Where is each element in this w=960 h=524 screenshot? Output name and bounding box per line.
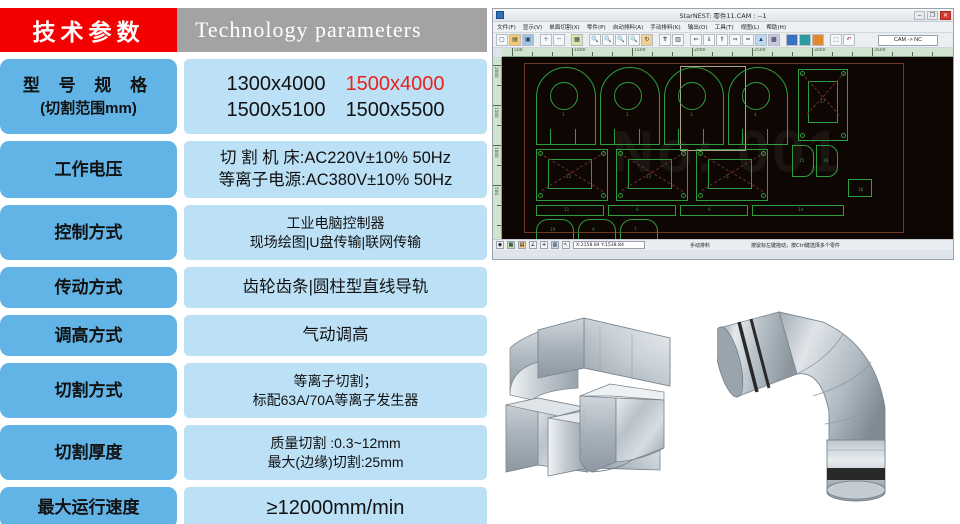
nest-part-6[interactable] bbox=[680, 205, 748, 216]
nest-part-4-tab bbox=[742, 129, 768, 145]
galvanized-duct-fittings-group bbox=[492, 300, 732, 520]
nest-part-4-hole bbox=[742, 82, 770, 110]
arrow-left-icon[interactable]: ⇐ bbox=[690, 34, 702, 46]
corner-hole bbox=[538, 193, 543, 198]
arrow-up-icon[interactable]: ⇑ bbox=[716, 34, 728, 46]
nest-part-number: 6 bbox=[708, 207, 711, 212]
layer-icon[interactable]: ▤ bbox=[518, 241, 526, 249]
cad-drawing-canvas[interactable]: No: 001 1 2 3 4 bbox=[502, 57, 953, 239]
nest-part-8[interactable] bbox=[608, 205, 676, 216]
ruler-h-label: 3000 bbox=[814, 48, 825, 53]
cad-titlebar: StarNEST: 零件11.CAM : --1 – ❐ ✕ bbox=[493, 9, 953, 22]
coordinate-readout: X:2158.84 Y:1538.84 bbox=[573, 241, 645, 249]
slide-root: 技术参数 Technology parameters 型 号 规 格 (切割范围… bbox=[0, 0, 960, 524]
row-value-height-adjust: 气动调高 bbox=[184, 315, 487, 356]
control-line-2: 现场绘图|U盘传输|联网传输 bbox=[250, 233, 421, 251]
model-line-2: 1500x5100 1500x5500 bbox=[226, 97, 444, 123]
model-1500x5500: 1500x5500 bbox=[346, 99, 445, 121]
row-value-model: 1300x4000 1500x4000 1500x5100 1500x5500 bbox=[184, 59, 487, 134]
row-label-voltage: 工作电压 bbox=[0, 141, 177, 198]
nest-part-3-tab bbox=[678, 129, 704, 145]
nest-part-number: 10 bbox=[550, 227, 555, 232]
cutting-mode-line-1: 等离子切割； bbox=[294, 372, 378, 390]
cutting-mode-line-2: 标配63A/70A等离子发生器 bbox=[253, 391, 419, 409]
hatch-icon[interactable]: ▩ bbox=[768, 34, 780, 46]
nest-part-9[interactable] bbox=[578, 219, 616, 239]
new-doc-icon[interactable]: ▢ bbox=[496, 34, 508, 46]
nest-part-number: 4 bbox=[754, 112, 757, 117]
cad-window-title: StarNEST: 零件11.CAM : --1 bbox=[493, 10, 953, 20]
table-row: 切割厚度 质量切割 :0.3~12mm 最大(边缘)切割:25mm bbox=[0, 425, 487, 480]
row-label-max-speed: 最大运行速度 bbox=[0, 487, 177, 524]
table-row: 控制方式 工业电脑控制器 现场绘图|U盘传输|联网传输 bbox=[0, 205, 487, 260]
horizontal-ruler[interactable]: 500 1000 1500 2000 2500 3000 3500 bbox=[502, 48, 953, 57]
magnify-fit-icon[interactable]: 🔍 bbox=[628, 34, 640, 46]
nest-part-number: 7 bbox=[634, 227, 637, 232]
table-row: 传动方式 齿轮齿条|圆柱型直线导轨 bbox=[0, 267, 487, 308]
nest-part-number: 14 bbox=[798, 207, 803, 212]
snap-icon[interactable]: ◉ bbox=[496, 241, 504, 249]
status-mode: 手动排料 bbox=[690, 242, 710, 249]
header-title-en: Technology parameters bbox=[177, 8, 487, 52]
open-folder-icon[interactable]: ▤ bbox=[509, 34, 521, 46]
corner-hole bbox=[618, 193, 623, 198]
spec-table-header: 技术参数 Technology parameters bbox=[0, 8, 487, 52]
ruler-v-label: 1000 bbox=[494, 147, 499, 158]
menu-file[interactable]: 文件(F) bbox=[497, 23, 516, 31]
model-line-1: 1300x4000 1500x4000 bbox=[226, 71, 444, 97]
nest-part-3-hole bbox=[678, 82, 706, 110]
view-icon[interactable]: ▥ bbox=[551, 241, 559, 249]
corner-hole bbox=[841, 133, 846, 138]
menu-single-cut[interactable]: 单面切割(X) bbox=[549, 23, 580, 31]
magnify-out-icon[interactable]: 🔍 bbox=[615, 34, 627, 46]
cad-body: 2000 1500 1000 500 No: 001 bbox=[493, 57, 953, 239]
minus-bar-icon[interactable]: ━ bbox=[742, 34, 754, 46]
block-blue-icon[interactable] bbox=[786, 34, 798, 46]
ruler-v-label: 2000 bbox=[494, 67, 499, 78]
window-controls: – ❐ ✕ bbox=[914, 11, 951, 20]
ruler-h-label: 2000 bbox=[694, 48, 705, 53]
table-row: 调高方式 气动调高 bbox=[0, 315, 487, 356]
row-label-control: 控制方式 bbox=[0, 205, 177, 260]
menu-part[interactable]: 零件(P) bbox=[587, 23, 606, 31]
ruler-h-label: 500 bbox=[514, 48, 523, 53]
status-hint: 按鼠标左键拖动，按Ctrl键选择多个零件 bbox=[751, 242, 840, 249]
model-1300x4000: 1300x4000 bbox=[226, 73, 325, 95]
row-value-max-speed: ≥12000mm/min bbox=[184, 487, 487, 524]
align-mirror-icon[interactable]: ▥ bbox=[672, 34, 684, 46]
ruler-h-label: 1500 bbox=[634, 48, 645, 53]
nest-part-1-hole bbox=[550, 82, 578, 110]
menu-manual-nest[interactable]: 手动排料(K) bbox=[650, 23, 680, 31]
row-label-model: 型 号 规 格 (切割范围mm) bbox=[0, 59, 177, 134]
zoom-out-minus-icon[interactable]: － bbox=[553, 34, 565, 46]
row-label-transmission: 传动方式 bbox=[0, 267, 177, 308]
cad-application-window[interactable]: StarNEST: 零件11.CAM : --1 – ❐ ✕ 文件(F) 显示(… bbox=[492, 8, 954, 260]
corner-hole bbox=[761, 193, 766, 198]
row-value-cutting-thickness: 质量切割 :0.3~12mm 最大(边缘)切割:25mm bbox=[184, 425, 487, 480]
nest-part-number: 15 bbox=[799, 158, 804, 163]
table-row: 最大运行速度 ≥12000mm/min bbox=[0, 487, 487, 524]
maximize-icon[interactable]: ❐ bbox=[927, 11, 938, 20]
max-speed-line-1: ≥12000mm/min bbox=[267, 495, 405, 521]
nest-part-number: 3 bbox=[690, 112, 693, 117]
spec-table: 技术参数 Technology parameters 型 号 规 格 (切割范围… bbox=[0, 8, 487, 520]
ruler-h-label: 3500 bbox=[874, 48, 885, 53]
menu-tools[interactable]: 工具(T) bbox=[715, 23, 734, 31]
control-line-1: 工业电脑控制器 bbox=[287, 214, 385, 232]
select-icon[interactable]: ⬚ bbox=[830, 34, 842, 46]
ruler-v-label: 1500 bbox=[494, 107, 499, 118]
cad-toolbar: ▢ ▤ ▣ ＋ － ▦ 🔍 🔍 🔍 🔍 ↻ ⇈ ▥ ⇐ ⇓ ⇑ ⇒ ━ ▲ ▩ bbox=[493, 33, 953, 48]
height-adjust-line-1: 气动调高 bbox=[303, 325, 369, 346]
arrow-down-icon[interactable]: ⇓ bbox=[703, 34, 715, 46]
row-value-transmission: 齿轮齿条|圆柱型直线导轨 bbox=[184, 267, 487, 308]
save-disk-icon[interactable]: ▣ bbox=[522, 34, 534, 46]
row-value-control: 工业电脑控制器 现场绘图|U盘传输|联网传输 bbox=[184, 205, 487, 260]
nest-part-number: 8 bbox=[636, 207, 639, 212]
magnify-window-icon[interactable]: 🔍 bbox=[589, 34, 601, 46]
nest-part-number: 18 bbox=[858, 187, 863, 192]
angle-icon[interactable]: ∠ bbox=[529, 241, 537, 249]
galvanized-round-elbow bbox=[717, 300, 917, 520]
nest-part-1-tab bbox=[550, 129, 576, 145]
ortho-icon[interactable]: ✛ bbox=[540, 241, 548, 249]
corner-hole bbox=[601, 193, 606, 198]
model-1500x4000: 1500x4000 bbox=[346, 73, 445, 95]
zoom-in-plus-icon[interactable]: ＋ bbox=[540, 34, 552, 46]
row-value-voltage: 切 割 机 床:AC220V±10% 50Hz 等离子电源:AC380V±10%… bbox=[184, 141, 487, 198]
menu-help[interactable]: 帮助(H) bbox=[766, 23, 786, 31]
ruler-v-label: 500 bbox=[494, 187, 499, 195]
array-icon[interactable]: ▲ bbox=[755, 34, 767, 46]
block-orange-icon[interactable] bbox=[812, 34, 824, 46]
product-photo-strip bbox=[492, 300, 957, 520]
rotate-icon[interactable]: ↻ bbox=[641, 34, 653, 46]
arrow-right-icon[interactable]: ⇒ bbox=[729, 34, 741, 46]
row-label-cutting-thickness: 切割厚度 bbox=[0, 425, 177, 480]
nest-part-11[interactable] bbox=[536, 205, 604, 216]
row-label-cutting-mode: 切割方式 bbox=[0, 363, 177, 418]
vertical-ruler[interactable]: 2000 1500 1000 500 bbox=[493, 57, 502, 239]
ruler-h-label: 2500 bbox=[754, 48, 765, 53]
corner-hole bbox=[681, 193, 686, 198]
row-label-model-sub: (切割范围mm) bbox=[40, 100, 137, 117]
grid-icon[interactable]: ▦ bbox=[571, 34, 583, 46]
block-teal-icon[interactable] bbox=[799, 34, 811, 46]
table-row: 切割方式 等离子切割； 标配63A/70A等离子发生器 bbox=[0, 363, 487, 418]
menu-output[interactable]: 输出(O) bbox=[688, 23, 708, 31]
nest-part-number: 1 bbox=[562, 112, 565, 117]
nest-part-2-tab bbox=[614, 129, 640, 145]
menu-window[interactable]: 视图(L) bbox=[741, 23, 760, 31]
minimize-icon[interactable]: – bbox=[914, 11, 925, 20]
model-1500x5100: 1500x5100 bbox=[226, 99, 325, 121]
nest-part-number: 2 bbox=[626, 112, 629, 117]
cad-statusbar: ◉ ▦ ▤ ∠ ✛ ▥ ↖ X:2158.84 Y:1538.84 手动排料 按… bbox=[493, 239, 953, 250]
undo-icon[interactable]: ↶ bbox=[843, 34, 855, 46]
cursor-icon[interactable]: ↖ bbox=[562, 241, 570, 249]
cutting-thickness-line-2: 最大(边缘)切割:25mm bbox=[267, 453, 403, 471]
row-label-height-adjust: 调高方式 bbox=[0, 315, 177, 356]
nest-part-number: 16 bbox=[823, 158, 828, 163]
ruler-h-label: 1000 bbox=[574, 48, 585, 53]
row-value-cutting-mode: 等离子切割； 标配63A/70A等离子发生器 bbox=[184, 363, 487, 418]
magnify-in-icon[interactable]: 🔍 bbox=[602, 34, 614, 46]
corner-hole bbox=[800, 133, 805, 138]
row-label-model-main: 型 号 规 格 bbox=[23, 76, 154, 95]
nest-part-2-hole bbox=[614, 82, 642, 110]
cutting-thickness-line-1: 质量切割 :0.3~12mm bbox=[270, 434, 400, 452]
nest-part-7[interactable] bbox=[620, 219, 658, 239]
close-icon[interactable]: ✕ bbox=[940, 11, 951, 20]
voltage-line-2: 等离子电源:AC380V±10% 50Hz bbox=[219, 170, 453, 191]
nest-part-number: 9 bbox=[592, 227, 595, 232]
align-top-icon[interactable]: ⇈ bbox=[659, 34, 671, 46]
menu-view[interactable]: 显示(V) bbox=[523, 23, 542, 31]
nest-part-number: 11 bbox=[564, 207, 569, 212]
corner-hole bbox=[698, 193, 703, 198]
table-row: 型 号 规 格 (切割范围mm) 1300x4000 1500x4000 150… bbox=[0, 59, 487, 134]
cam-to-nc-field[interactable]: CAM -> NC bbox=[878, 35, 938, 46]
menu-auto-nest[interactable]: 自动排料(A) bbox=[613, 23, 644, 31]
transmission-line-1: 齿轮齿条|圆柱型直线导轨 bbox=[243, 277, 429, 298]
cad-menubar: 文件(F) 显示(V) 单面切割(X) 零件(P) 自动排料(A) 手动排料(K… bbox=[493, 22, 953, 33]
table-row: 工作电压 切 割 机 床:AC220V±10% 50Hz 等离子电源:AC380… bbox=[0, 141, 487, 198]
header-title-cn: 技术参数 bbox=[0, 8, 177, 52]
grid-snap-icon[interactable]: ▦ bbox=[507, 241, 515, 249]
voltage-line-1: 切 割 机 床:AC220V±10% 50Hz bbox=[220, 148, 451, 169]
